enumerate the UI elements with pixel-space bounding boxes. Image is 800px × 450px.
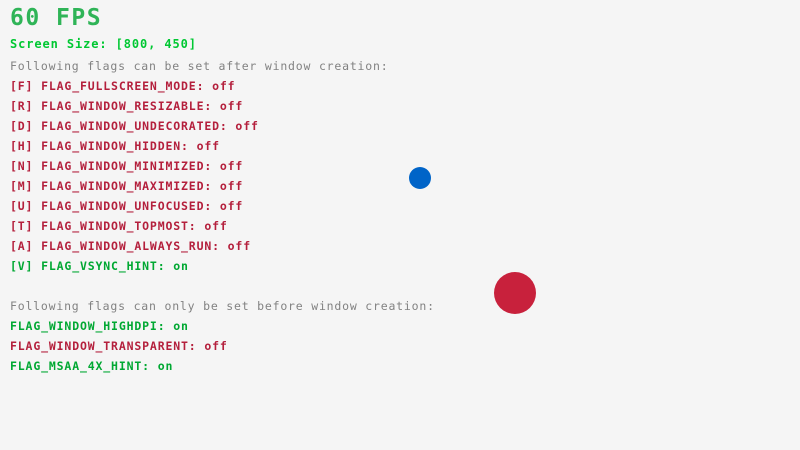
- flag-row-flag-msaa-4x-hint[interactable]: FLAG_MSAA_4X_HINT: on: [10, 360, 173, 372]
- section-header-before-creation: Following flags can only be set before w…: [10, 300, 435, 312]
- fps-counter: 60 FPS: [10, 6, 102, 30]
- flag-row-flag-window-always-run[interactable]: [A] FLAG_WINDOW_ALWAYS_RUN: off: [10, 240, 251, 252]
- red-circle: [494, 272, 536, 314]
- flag-row-flag-window-transparent[interactable]: FLAG_WINDOW_TRANSPARENT: off: [10, 340, 228, 352]
- flag-row-flag-window-hidden[interactable]: [H] FLAG_WINDOW_HIDDEN: off: [10, 140, 220, 152]
- flag-row-flag-window-maximized[interactable]: [M] FLAG_WINDOW_MAXIMIZED: off: [10, 180, 243, 192]
- blue-circle: [409, 167, 431, 189]
- flag-row-flag-window-minimized[interactable]: [N] FLAG_WINDOW_MINIMIZED: off: [10, 160, 243, 172]
- flag-row-flag-window-undecorated[interactable]: [D] FLAG_WINDOW_UNDECORATED: off: [10, 120, 259, 132]
- raylib-window-flags-demo: 60 FPS Screen Size: [800, 450] Following…: [0, 0, 800, 450]
- section-header-after-creation: Following flags can be set after window …: [10, 60, 388, 72]
- flag-row-flag-window-unfocused[interactable]: [U] FLAG_WINDOW_UNFOCUSED: off: [10, 200, 243, 212]
- flag-row-flag-vsync-hint[interactable]: [V] FLAG_VSYNC_HINT: on: [10, 260, 189, 272]
- flag-row-flag-window-resizable[interactable]: [R] FLAG_WINDOW_RESIZABLE: off: [10, 100, 243, 112]
- flag-row-flag-window-topmost[interactable]: [T] FLAG_WINDOW_TOPMOST: off: [10, 220, 228, 232]
- screen-size-label: Screen Size: [800, 450]: [10, 38, 197, 50]
- flag-row-flag-fullscreen-mode[interactable]: [F] FLAG_FULLSCREEN_MODE: off: [10, 80, 235, 92]
- flag-row-flag-window-highdpi[interactable]: FLAG_WINDOW_HIGHDPI: on: [10, 320, 189, 332]
